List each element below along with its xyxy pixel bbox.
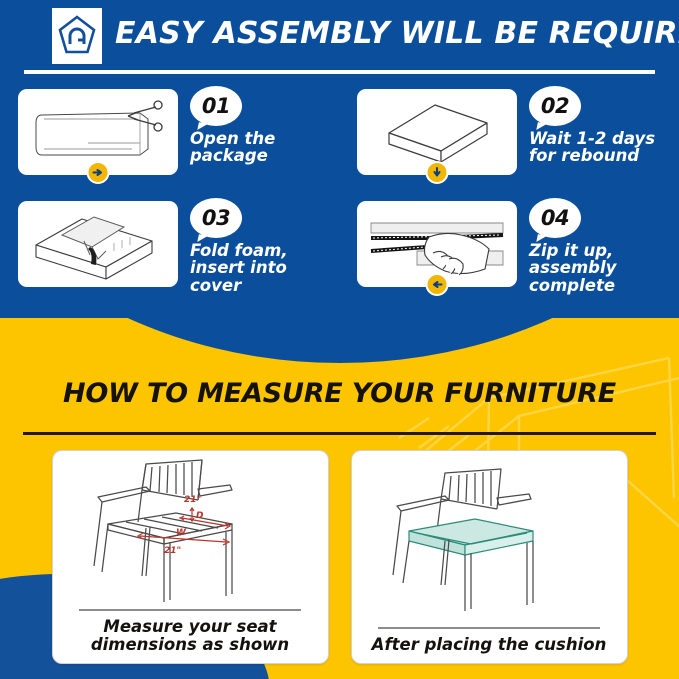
step-03-text: 03 Fold foam, insert into cover bbox=[190, 198, 339, 294]
step-03-illustration-card bbox=[18, 201, 178, 287]
step-01-number: 01 bbox=[202, 94, 230, 118]
foam-folded-into-cover-icon bbox=[28, 207, 168, 281]
step-01-arrow-badge bbox=[87, 161, 110, 184]
step-row-2: 03 Fold foam, insert into cover bbox=[0, 198, 679, 310]
step-01-text: 01 Open the package bbox=[190, 86, 339, 165]
step-02-number-badge: 02 bbox=[529, 86, 581, 126]
step-04-text: 04 Zip it up, assembly complete bbox=[529, 198, 678, 294]
dimension-depth-value: 21" bbox=[184, 495, 201, 505]
step-01-label: Open the package bbox=[190, 130, 339, 165]
dimension-width-axis: W bbox=[176, 528, 187, 538]
step-03: 03 Fold foam, insert into cover bbox=[0, 198, 339, 310]
measure-panels: 21" D W 21" Measure your seat dimensions… bbox=[0, 450, 679, 664]
cushion-panel-art bbox=[352, 451, 627, 627]
step-04-illustration-card bbox=[357, 201, 517, 287]
step-02-number: 02 bbox=[541, 94, 569, 118]
arrow-left-icon bbox=[432, 279, 443, 290]
step-01-number-badge: 01 bbox=[190, 86, 242, 126]
measure-panel-caption: Measure your seat dimensions as shown bbox=[53, 611, 328, 663]
hand-zipping-cover-icon bbox=[367, 207, 507, 281]
arrow-down-icon bbox=[432, 167, 443, 178]
dimension-depth-axis: D bbox=[196, 511, 204, 521]
chair-with-cushion-icon bbox=[379, 465, 599, 613]
step-02-label: Wait 1-2 days for rebound bbox=[529, 130, 678, 165]
brand-logo bbox=[52, 8, 102, 64]
step-02-arrow-badge bbox=[426, 161, 449, 184]
measure-title-divider bbox=[23, 432, 656, 435]
step-03-number: 03 bbox=[202, 206, 230, 230]
header-divider bbox=[24, 70, 655, 74]
step-04-arrow-badge bbox=[426, 273, 449, 296]
page-title: EASY ASSEMBLY WILL BE REQUIRED bbox=[115, 16, 679, 51]
step-04-number: 04 bbox=[541, 206, 569, 230]
cushion-panel: After placing the cushion bbox=[351, 450, 628, 664]
assembly-steps: 01 Open the package bbox=[0, 86, 679, 310]
infographic-root: EASY ASSEMBLY WILL BE REQUIRED bbox=[0, 0, 679, 679]
house-pentagon-logo-icon bbox=[57, 14, 97, 58]
step-04-number-badge: 04 bbox=[529, 198, 581, 238]
step-01: 01 Open the package bbox=[0, 86, 339, 198]
step-01-illustration-card bbox=[18, 89, 178, 175]
measure-section-title: HOW TO MEASURE YOUR FURNITURE bbox=[0, 378, 679, 409]
step-03-label: Fold foam, insert into cover bbox=[190, 242, 339, 294]
foam-slab-icon bbox=[377, 97, 497, 167]
step-03-number-badge: 03 bbox=[190, 198, 242, 238]
dimension-width-value: 21" bbox=[164, 546, 181, 556]
package-with-scissors-icon bbox=[28, 99, 168, 165]
header: EASY ASSEMBLY WILL BE REQUIRED bbox=[0, 0, 679, 82]
step-02: 02 Wait 1-2 days for rebound bbox=[339, 86, 678, 198]
arrow-right-icon bbox=[93, 167, 104, 178]
step-02-illustration-card bbox=[357, 89, 517, 175]
measure-panel-art: 21" D W 21" bbox=[53, 451, 328, 609]
step-04-label: Zip it up, assembly complete bbox=[529, 242, 678, 294]
measure-panel-dimensions: 21" D W 21" Measure your seat dimensions… bbox=[52, 450, 329, 664]
cushion-panel-caption: After placing the cushion bbox=[364, 629, 615, 663]
step-04: 04 Zip it up, assembly complete bbox=[339, 198, 678, 310]
chair-with-dimensions-icon: 21" D W 21" bbox=[80, 456, 300, 604]
step-row-1: 01 Open the package bbox=[0, 86, 679, 198]
step-02-text: 02 Wait 1-2 days for rebound bbox=[529, 86, 678, 165]
